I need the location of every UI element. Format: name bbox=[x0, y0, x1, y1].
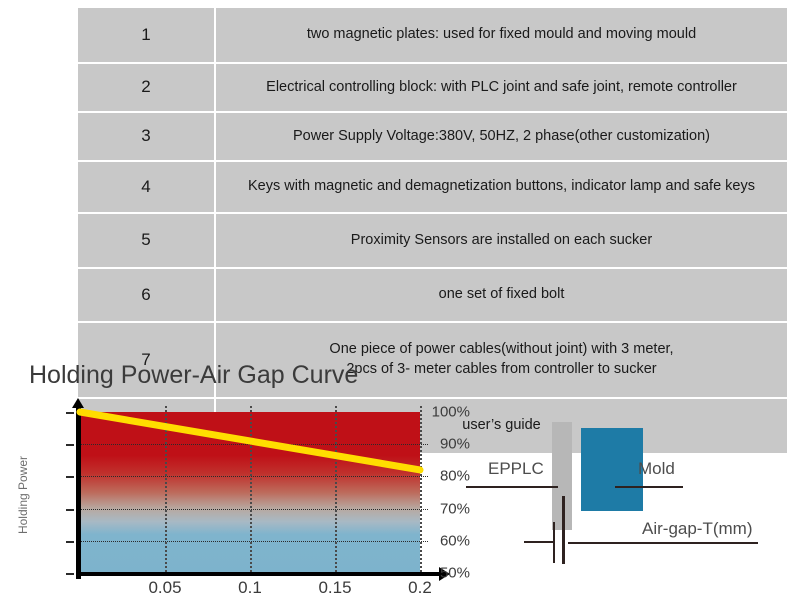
air-gap-schematic-diagram: EPPLC Mold Air-gap-T(mm) bbox=[470, 400, 793, 597]
y-tick-label: 70% bbox=[412, 500, 470, 517]
row-number: 5 bbox=[78, 214, 216, 269]
row-description: Electrical controlling block: with PLC j… bbox=[216, 64, 787, 113]
table-row: 6 one set of fixed bolt bbox=[78, 269, 787, 323]
row-number: 6 bbox=[78, 269, 216, 323]
gridline-vertical bbox=[250, 406, 252, 576]
air-gap-bar-left bbox=[553, 522, 555, 563]
mold-block-shape bbox=[581, 428, 643, 511]
air-gap-dimension-tick bbox=[524, 541, 554, 543]
row-description: two magnetic plates: used for fixed moul… bbox=[216, 8, 787, 64]
gridline-vertical bbox=[165, 406, 167, 576]
y-tick-mark bbox=[66, 509, 74, 511]
row-description: Keys with magnetic and demagnetization b… bbox=[216, 162, 787, 214]
row-number: 3 bbox=[78, 113, 216, 162]
y-tick-mark bbox=[66, 444, 74, 446]
x-axis-line bbox=[76, 572, 440, 576]
epplc-leader-line bbox=[466, 486, 558, 488]
y-tick-label: 80% bbox=[412, 468, 470, 485]
row-description: Proximity Sensors are installed on each … bbox=[216, 214, 787, 269]
table-row: 2 Electrical controlling block: with PLC… bbox=[78, 64, 787, 113]
mold-leader-line bbox=[615, 486, 683, 488]
gridline-vertical bbox=[420, 406, 422, 576]
x-tick-label: 0.05 bbox=[130, 578, 200, 598]
row-number: 1 bbox=[78, 8, 216, 64]
y-tick-mark bbox=[66, 573, 74, 575]
row-number: 4 bbox=[78, 162, 216, 214]
table-row: 4 Keys with magnetic and demagnetization… bbox=[78, 162, 787, 214]
y-tick-mark bbox=[66, 476, 74, 478]
table-row: 5 Proximity Sensors are installed on eac… bbox=[78, 214, 787, 269]
x-tick-label: 0.1 bbox=[215, 578, 285, 598]
table-row: 3 Power Supply Voltage:380V, 50HZ, 2 pha… bbox=[78, 113, 787, 162]
y-tick-label: 60% bbox=[412, 532, 470, 549]
air-gap-label: Air-gap-T(mm) bbox=[642, 519, 753, 539]
mold-label: Mold bbox=[638, 459, 675, 479]
air-gap-bar-right bbox=[562, 496, 565, 564]
row-description: Power Supply Voltage:380V, 50HZ, 2 phase… bbox=[216, 113, 787, 162]
gridline-vertical bbox=[335, 406, 337, 576]
y-tick-mark bbox=[66, 541, 74, 543]
table-row: 1 two magnetic plates: used for fixed mo… bbox=[78, 8, 787, 64]
gridline-horizontal bbox=[80, 541, 428, 542]
y-axis-line bbox=[76, 406, 81, 579]
gridline-horizontal bbox=[80, 509, 428, 510]
y-tick-label: 100% bbox=[412, 404, 470, 421]
y-axis-arrow-icon bbox=[72, 398, 84, 408]
holding-power-air-gap-chart: 50%60%70%80%90%100% 0.050.10.150.2 Holdi… bbox=[0, 400, 470, 597]
row-number: 2 bbox=[78, 64, 216, 113]
chart-title: Holding Power-Air Gap Curve bbox=[29, 361, 358, 390]
y-tick-label: 90% bbox=[412, 436, 470, 453]
y-axis-title: Holding Power bbox=[16, 445, 30, 545]
air-gap-leader-line bbox=[568, 542, 758, 544]
epplc-label: EPPLC bbox=[488, 459, 544, 479]
y-tick-mark bbox=[66, 412, 74, 414]
x-tick-label: 0.2 bbox=[385, 578, 455, 598]
x-tick-label: 0.15 bbox=[300, 578, 370, 598]
row-description: one set of fixed bolt bbox=[216, 269, 787, 323]
gridline-horizontal bbox=[80, 476, 428, 477]
gridline-horizontal bbox=[80, 444, 428, 445]
